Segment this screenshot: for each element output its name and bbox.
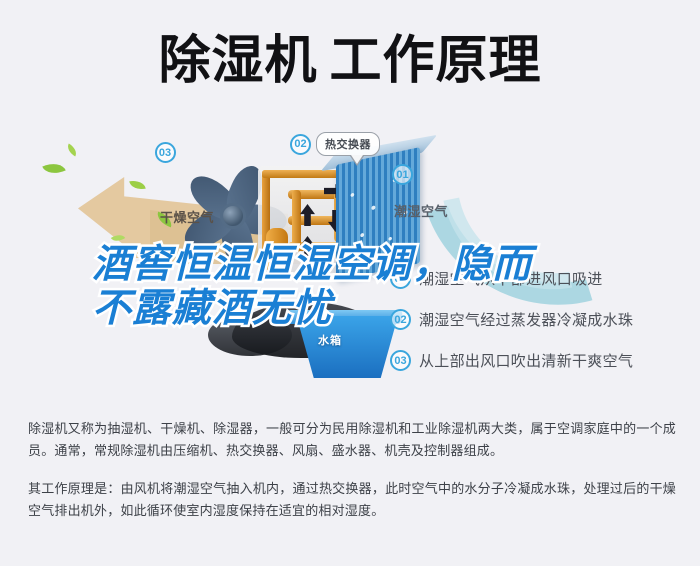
- callout-number-badge: 01: [392, 164, 413, 185]
- title-part-2: 工作原理: [330, 32, 542, 90]
- overlay-line-1-text: 酒窖恒温恒湿空调，: [92, 243, 452, 286]
- leaf-icon: [42, 158, 66, 178]
- overlay-line-1: 酒窖恒温恒湿空调，隐而: [92, 243, 612, 287]
- callout-humid-air: 01 潮湿空气: [392, 164, 448, 220]
- step-number-badge: 03: [390, 350, 411, 371]
- callout-number-badge: 02: [290, 134, 311, 155]
- callout-label: 潮湿空气: [394, 201, 448, 220]
- water-tank-label: 水箱: [318, 332, 342, 348]
- leaf-icon: [65, 144, 79, 157]
- paragraph-2: 其工作原理是：由风机将潮湿空气抽入机内，通过热交换器，此时空气中的水分子冷凝成水…: [28, 478, 676, 522]
- copper-pipe-icon: [262, 170, 340, 178]
- page-title: 除湿机工作原理: [0, 32, 700, 90]
- callout-heat-exchanger: 02 热交换器: [290, 132, 380, 156]
- paragraph-1: 除湿机又称为抽湿机、干燥机、除湿器，一般可分为民用除湿机和工业除湿机两大类，属于…: [28, 418, 676, 462]
- list-item: 03 从上部出风口吹出清新干爽空气: [390, 340, 690, 381]
- fan-hub-icon: [220, 203, 246, 229]
- description-block: 除湿机又称为抽湿机、干燥机、除湿器，一般可分为民用除湿机和工业除湿机两大类，属于…: [28, 418, 676, 522]
- callout-label: 热交换器: [316, 132, 380, 156]
- title-part-1: 除湿机: [158, 32, 317, 90]
- overlay-headline: 酒窖恒温恒湿空调，隐而 不露藏酒无忧: [92, 243, 612, 332]
- step-text: 从上部出风口吹出清新干爽空气: [419, 350, 633, 371]
- overlay-line-2: 不露藏酒无忧: [92, 287, 612, 331]
- callout-label: 干燥空气: [160, 207, 214, 226]
- callout-dry-air: 03 干燥空气: [116, 142, 214, 226]
- poster-root: 除湿机工作原理: [0, 0, 700, 566]
- callout-number-badge: 03: [155, 142, 176, 163]
- overlay-line-1-tail: 隐而: [452, 243, 532, 286]
